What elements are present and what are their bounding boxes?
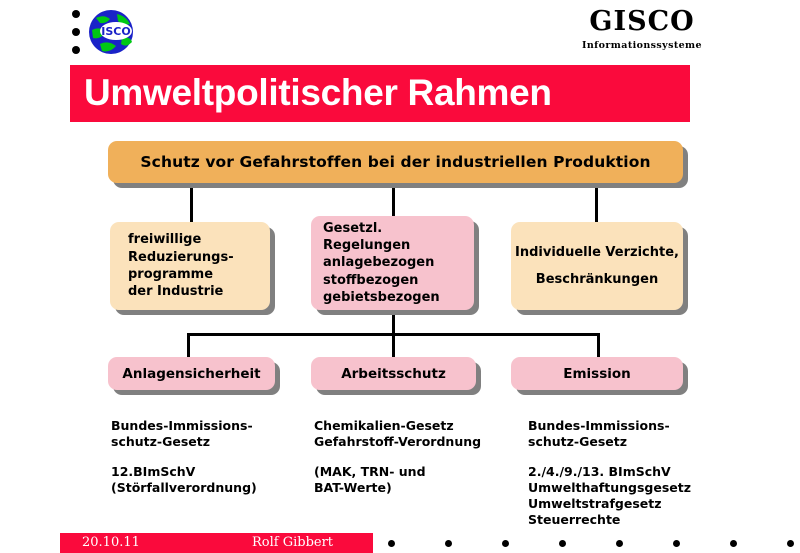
globe-logo-icon: ISCO [86, 8, 136, 56]
legend-line: 12.BImSchV [111, 464, 306, 480]
legend-line: Umweltstrafgesetz [528, 496, 738, 512]
footer-date: 20.10.11 [82, 535, 140, 550]
legend-column-plant-safety: Bundes-Immissions- schutz-Gesetz 12.BImS… [111, 418, 306, 496]
node-root-protection[interactable]: Schutz vor Gefahrstoffen bei der industr… [108, 141, 683, 183]
node-individual-restrictions[interactable]: Individuelle Verzichte, Beschränkungen [511, 222, 683, 310]
connector-root-to-voluntary [190, 183, 193, 222]
node-leaf-label: Anlagensicherheit [122, 366, 260, 382]
legend-spacer [528, 450, 738, 464]
title-banner: Umweltpolitischer Rahmen [70, 65, 690, 122]
legend-line: schutz-Gesetz [528, 434, 738, 450]
legend-line: (Störfallverordnung) [111, 480, 306, 496]
node-line: stoffbezogen [323, 272, 474, 289]
footer-author: Rolf Gibbert [252, 535, 333, 550]
connector-bus-to-plant [187, 333, 190, 357]
legend-line: 2./4./9./13. BImSchV [528, 464, 738, 480]
logo-wordmark: ISCO [101, 25, 130, 38]
node-line: Reduzierungs- [128, 249, 270, 266]
legend-column-emission: Bundes-Immissions- schutz-Gesetz 2./4./9… [528, 418, 738, 528]
page-title: Umweltpolitischer Rahmen [84, 72, 552, 114]
brand-block: GISCO Informationssysteme [532, 8, 752, 51]
footer-bar: 20.10.11 Rolf Gibbert [60, 533, 373, 553]
node-worker-protection[interactable]: Arbeitsschutz [311, 357, 476, 390]
node-line: freiwillige [128, 231, 270, 248]
header-logo: ISCO [72, 6, 148, 58]
node-line: Beschränkungen [536, 266, 658, 293]
node-root-label: Schutz vor Gefahrstoffen bei der industr… [140, 153, 650, 171]
brand-name: GISCO [532, 8, 752, 36]
legend-line: BAT-Werte) [314, 480, 514, 496]
node-line: programme [128, 266, 270, 283]
connector-level3-bus [187, 333, 600, 336]
legend-line: Steuerrechte [528, 512, 738, 528]
legend-spacer [314, 450, 514, 464]
legend-column-worker-protection: Chemikalien-Gesetz Gefahrstoff-Verordnun… [314, 418, 514, 496]
footer-dots-icon [388, 538, 794, 548]
legend-line: Gefahrstoff-Verordnung [314, 434, 514, 450]
node-emission[interactable]: Emission [511, 357, 683, 390]
legend-line: Bundes-Immissions- [111, 418, 306, 434]
connector-root-to-individual [595, 183, 598, 222]
legend-line: Bundes-Immissions- [528, 418, 738, 434]
legend-line: schutz-Gesetz [111, 434, 306, 450]
connector-root-to-legal [392, 183, 395, 216]
node-line: gebietsbezogen [323, 289, 474, 306]
brand-subtitle: Informationssysteme [532, 40, 752, 51]
node-line: Gesetzl. Regelungen [323, 220, 474, 255]
node-leaf-label: Emission [563, 366, 631, 382]
legend-spacer [111, 450, 306, 464]
node-legal-regulations[interactable]: Gesetzl. Regelungen anlagebezogen stoffb… [311, 216, 474, 310]
node-line: Individuelle Verzichte, [515, 239, 679, 266]
node-line: der Industrie [128, 283, 270, 300]
node-line: anlagebezogen [323, 254, 474, 271]
node-leaf-label: Arbeitsschutz [341, 366, 446, 382]
node-voluntary-programs[interactable]: freiwillige Reduzierungs- programme der … [110, 222, 270, 310]
legend-line: Chemikalien-Gesetz [314, 418, 514, 434]
bullet-dots-icon [72, 10, 86, 58]
connector-bus-to-emission [597, 333, 600, 357]
legend-line: (MAK, TRN- und [314, 464, 514, 480]
node-plant-safety[interactable]: Anlagensicherheit [108, 357, 275, 390]
legend-line: Umwelthaftungsgesetz [528, 480, 738, 496]
